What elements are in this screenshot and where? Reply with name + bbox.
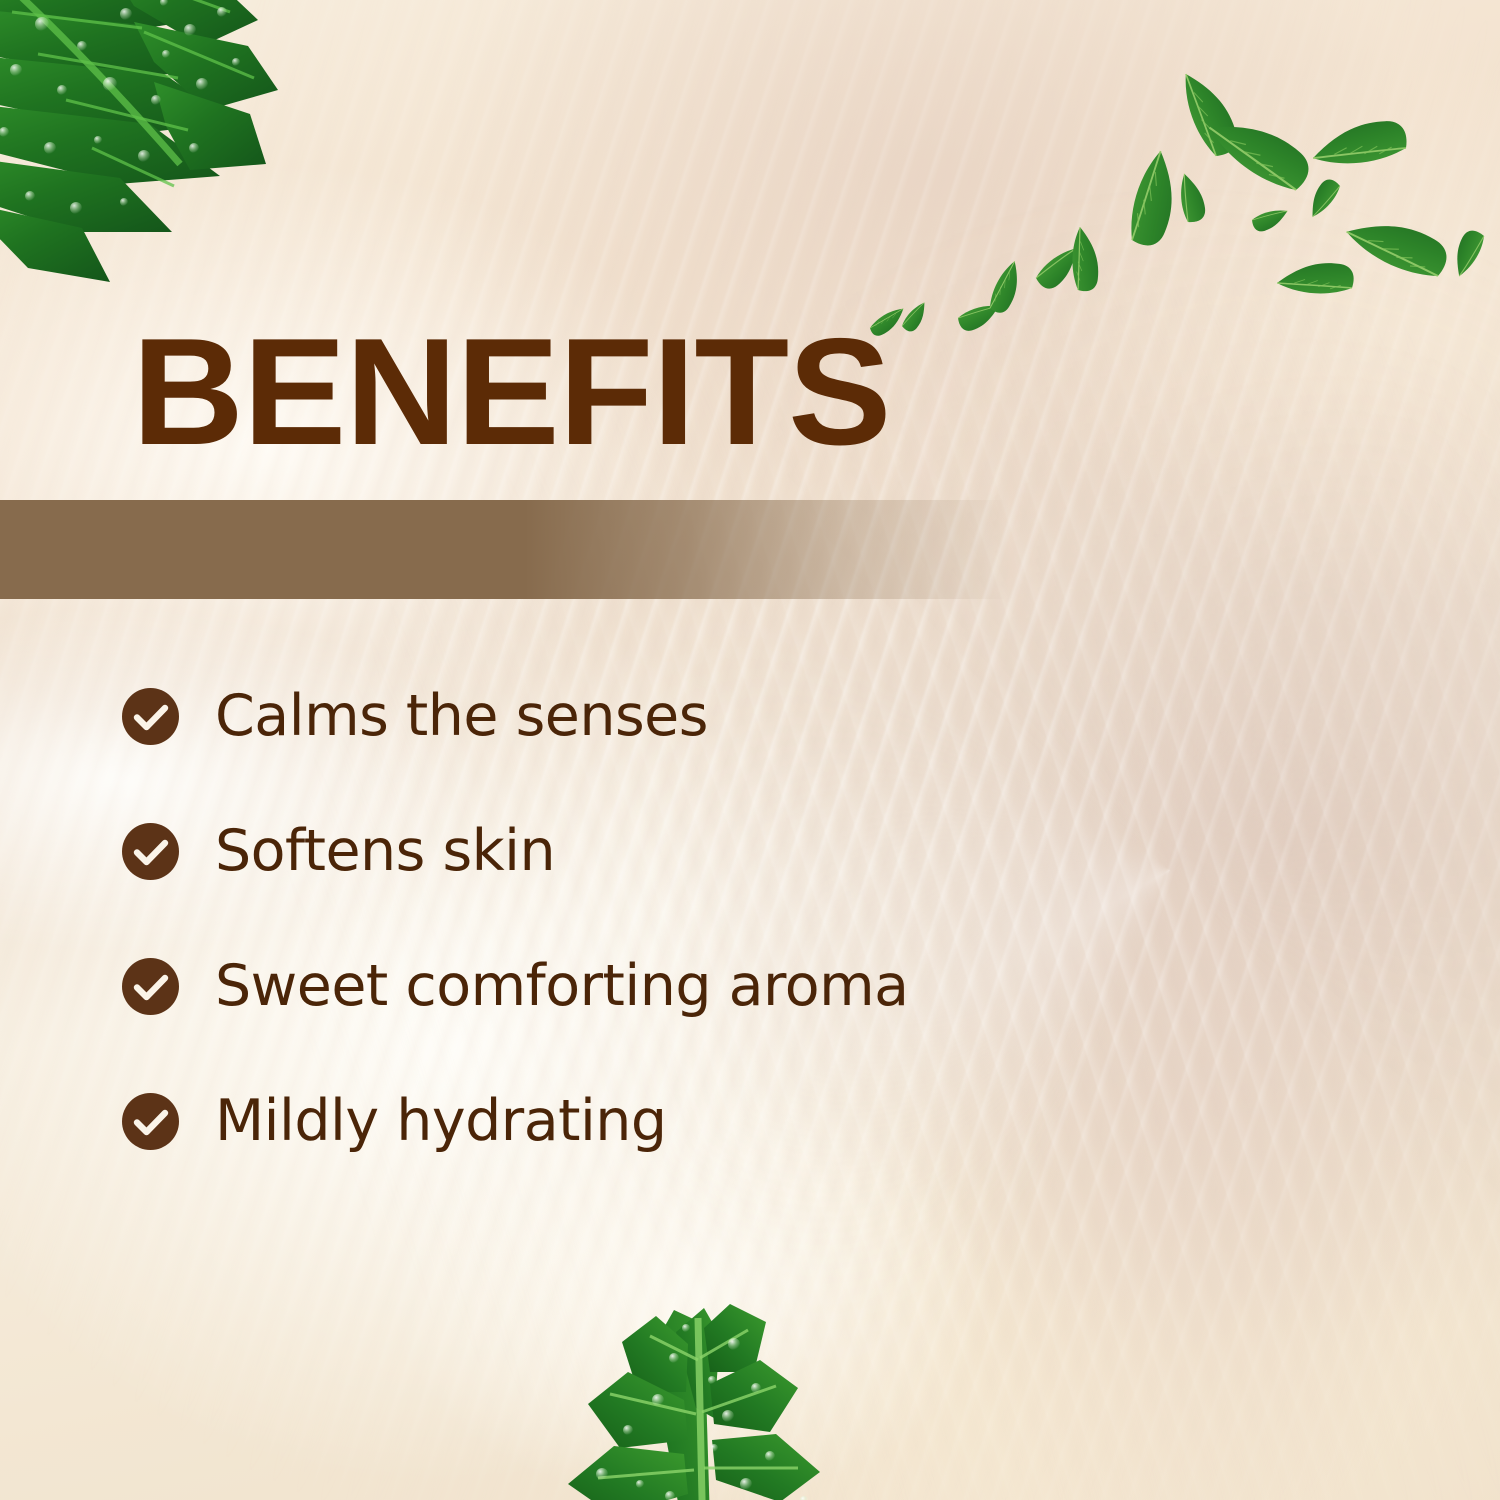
- benefits-list: Calms the senses Softens skin Sweet comf…: [122, 660, 1122, 1200]
- list-item-label: Mildly hydrating: [215, 1083, 667, 1159]
- check-circle-icon: [122, 823, 179, 880]
- check-circle-icon: [122, 688, 179, 745]
- list-item-label: Sweet comforting aroma: [215, 948, 909, 1024]
- check-circle-icon: [122, 958, 179, 1015]
- section-divider-bar: [0, 500, 1010, 599]
- list-item: Calms the senses: [122, 660, 1122, 795]
- benefits-poster: BENEFITS Calms the senses Softens skin: [0, 0, 1500, 1500]
- check-circle-icon: [122, 1093, 179, 1150]
- list-item-label: Calms the senses: [215, 678, 708, 754]
- list-item: Softens skin: [122, 795, 1122, 930]
- list-item: Sweet comforting aroma: [122, 930, 1122, 1065]
- list-item-label: Softens skin: [215, 813, 555, 889]
- list-item: Mildly hydrating: [122, 1065, 1122, 1200]
- page-title: BENEFITS: [132, 316, 890, 468]
